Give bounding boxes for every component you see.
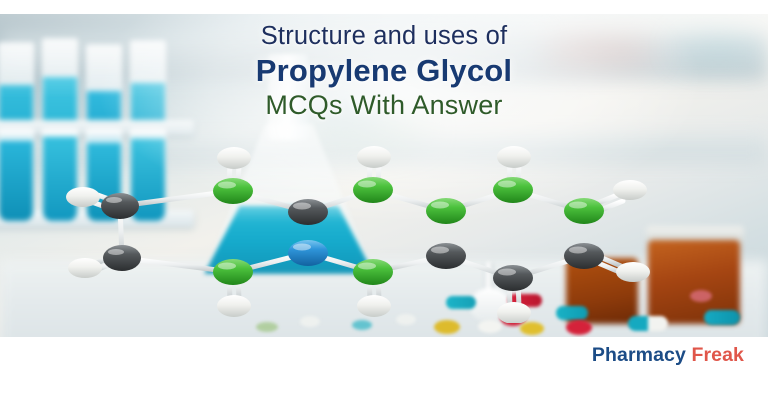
title-line-2: Propylene Glycol bbox=[0, 53, 768, 88]
atom-gray bbox=[426, 243, 466, 269]
atom-green bbox=[564, 198, 604, 224]
atom-white bbox=[616, 262, 650, 282]
title-line-3: MCQs With Answer bbox=[0, 90, 768, 121]
atom-white bbox=[217, 147, 251, 169]
atom-green bbox=[213, 178, 253, 204]
site-logo[interactable]: Pharmacy Freak bbox=[592, 344, 744, 367]
logo-word-pharmacy: Pharmacy bbox=[592, 344, 686, 366]
atom-gray bbox=[101, 193, 139, 219]
title-block: Structure and uses of Propylene Glycol M… bbox=[0, 22, 768, 121]
featured-image-canvas: Structure and uses of Propylene Glycol M… bbox=[0, 0, 768, 402]
atom-green bbox=[353, 259, 393, 285]
atom-white bbox=[217, 295, 251, 317]
atom-gray bbox=[564, 243, 604, 269]
atom-white bbox=[497, 302, 531, 323]
tablet-yellow bbox=[520, 322, 544, 335]
logo-word-freak: Freak bbox=[691, 344, 744, 366]
atom-group bbox=[66, 146, 650, 323]
atom-white bbox=[68, 258, 102, 278]
atom-green bbox=[353, 177, 393, 203]
atom-gray bbox=[288, 199, 328, 225]
atom-green bbox=[426, 198, 466, 224]
atom-gray bbox=[103, 245, 141, 271]
atom-white bbox=[66, 187, 100, 207]
atom-white bbox=[357, 295, 391, 317]
title-line-1: Structure and uses of bbox=[0, 22, 768, 51]
atom-white bbox=[613, 180, 647, 200]
atom-gray bbox=[493, 265, 533, 291]
atom-white bbox=[497, 146, 531, 168]
atom-white bbox=[357, 146, 391, 168]
atom-green bbox=[493, 177, 533, 203]
atom-blue bbox=[288, 240, 328, 266]
atom-green bbox=[213, 259, 253, 285]
tablet-green bbox=[256, 322, 278, 332]
